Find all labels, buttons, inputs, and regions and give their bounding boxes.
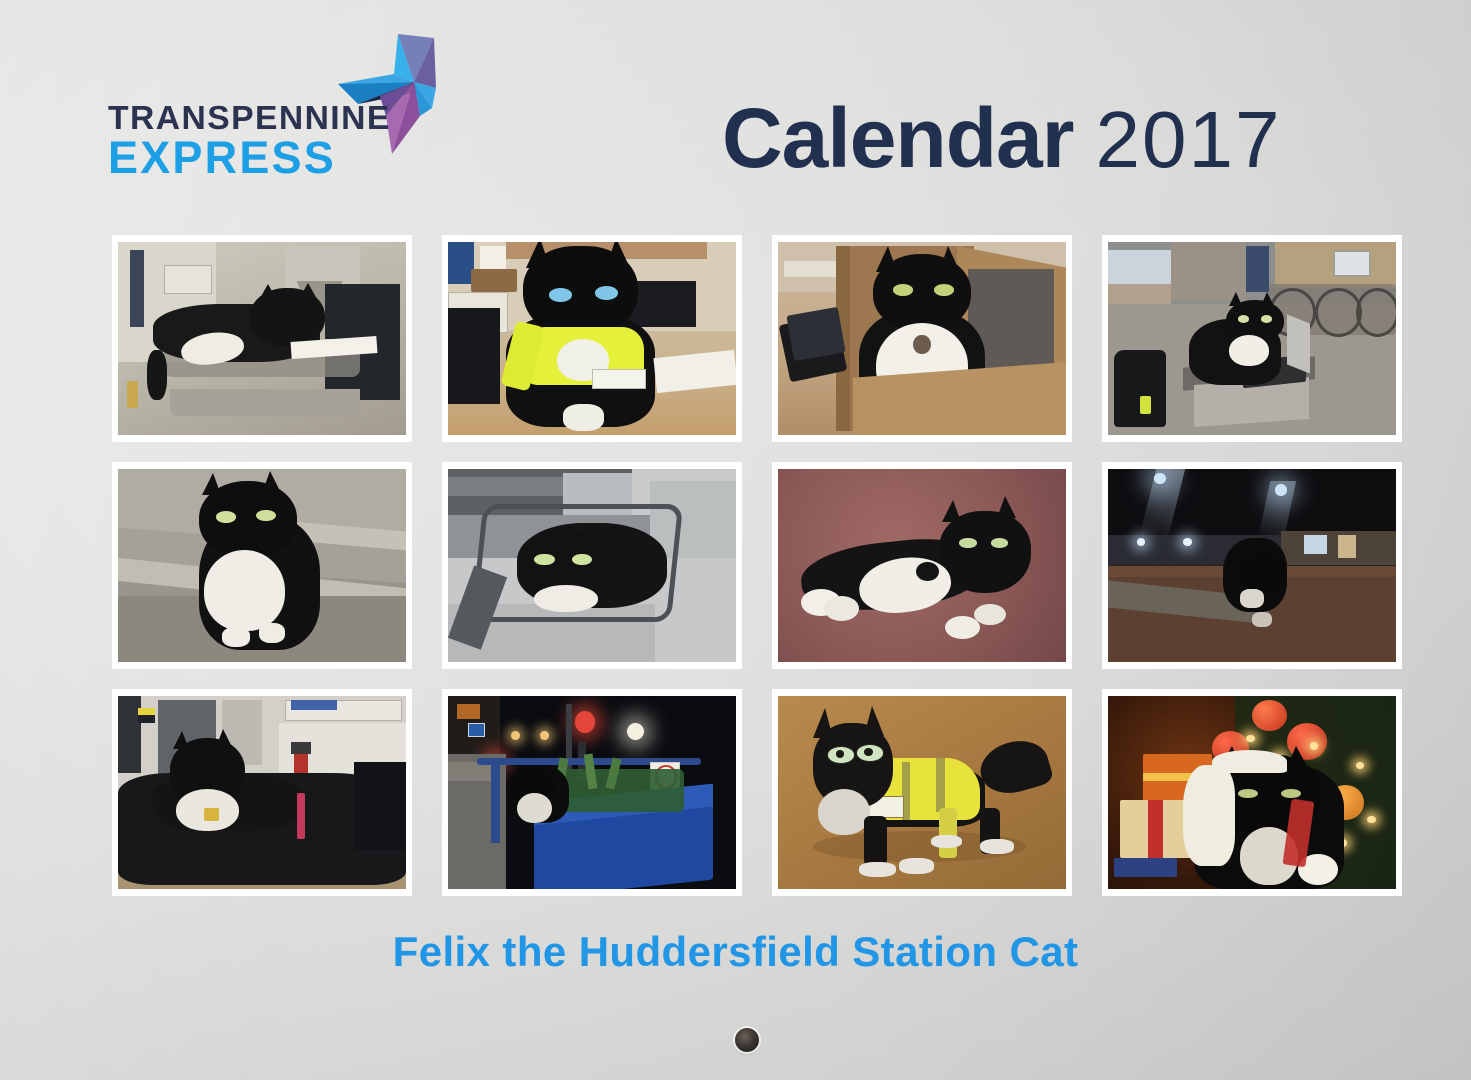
photo-cat-by-christmas-tree[interactable]: [1102, 689, 1402, 896]
hanging-hole: [735, 1028, 759, 1052]
photo-cat-wearing-hi-vis-vest-at-desk[interactable]: [442, 235, 742, 442]
logo-line-transpennine: TRANSPENNINE: [108, 102, 391, 134]
photo-cat-on-night-platform[interactable]: [1102, 462, 1402, 669]
page-title: Calendar 2017: [722, 96, 1281, 180]
photo-cat-sitting-on-kerb[interactable]: [112, 462, 412, 669]
photo-kitten-on-maroon-carpet[interactable]: [772, 462, 1072, 669]
photo-cat-sitting-in-cardboard-box[interactable]: [772, 235, 1072, 442]
title-word-calendar: Calendar: [722, 96, 1073, 180]
logo-line-express: EXPRESS: [108, 136, 385, 179]
photo-cat-in-kit-bag[interactable]: [112, 689, 412, 896]
photo-cat-by-blue-planter-at-night[interactable]: [442, 689, 742, 896]
photo-grid: [112, 235, 1402, 900]
photo-cat-illustration-in-hi-vis[interactable]: [772, 689, 1072, 896]
transpennine-express-logo: TRANSPENNINE EXPRESS: [108, 36, 438, 186]
photo-cat-on-platform-bench-with-laptop[interactable]: [1102, 235, 1402, 442]
title-year: 2017: [1095, 100, 1281, 180]
photo-kitten-asleep-in-paper-tray[interactable]: [112, 235, 412, 442]
photo-cat-under-platform-seat[interactable]: [442, 462, 742, 669]
cover-caption: Felix the Huddersfield Station Cat: [0, 928, 1471, 976]
